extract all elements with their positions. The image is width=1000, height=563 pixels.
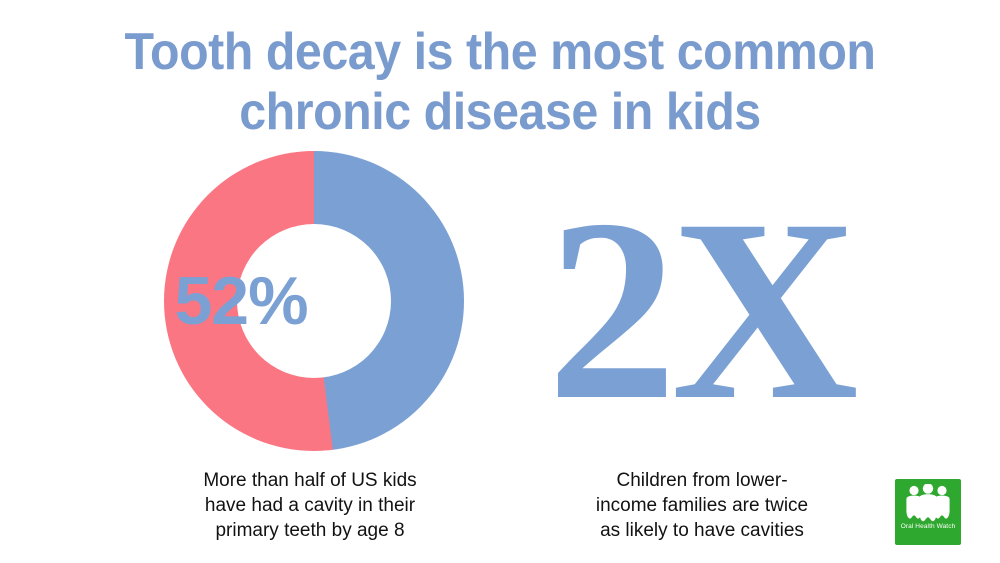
donut-chart: 52% [164,151,464,451]
caption-donut: More than half of US kids have had a cav… [160,468,460,543]
logo-text: Oral Health Watch [895,523,961,531]
page-title: Tooth decay is the most common chronic d… [82,22,919,142]
three-people-teeth-icon [902,484,954,522]
multiplier-stat: 2X [495,170,905,450]
caption-multiplier: Children from lower- income families are… [552,468,852,543]
infographic-canvas: Tooth decay is the most common chronic d… [0,0,1000,563]
donut-center-value: 52% [144,224,338,378]
logo-oral-health-watch: Oral Health Watch [895,479,961,545]
